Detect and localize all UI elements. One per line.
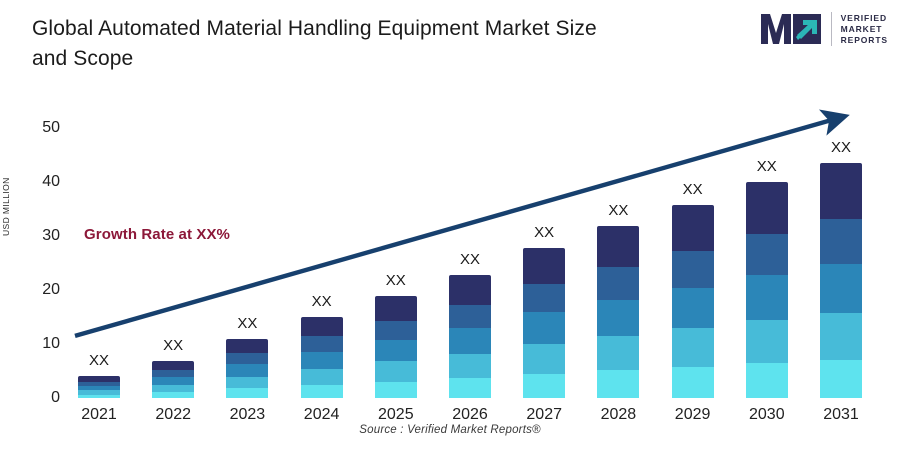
bar-value-label: XX — [656, 181, 730, 198]
y-axis-tick-label: 20 — [16, 281, 60, 299]
bar-group-2028[interactable]: XX2028 — [581, 0, 655, 450]
bars-container: XX2021XX2022XX2023XX2024XX2025XX2026XX20… — [62, 0, 882, 450]
bar-value-label: XX — [285, 293, 359, 310]
y-axis-tick-label: 50 — [16, 119, 60, 137]
x-axis-tick-label: 2031 — [804, 406, 878, 424]
bar-segment-segment-3 — [597, 300, 639, 336]
stacked-bar[interactable] — [746, 182, 788, 398]
bar-segment-segment-3 — [152, 377, 194, 385]
y-axis-tick-label: 30 — [16, 227, 60, 245]
x-axis-tick-label: 2026 — [433, 406, 507, 424]
bar-group-2026[interactable]: XX2026 — [433, 0, 507, 450]
bar-value-label: XX — [804, 139, 878, 156]
bar-segment-segment-4 — [746, 320, 788, 363]
y-axis-ticks: 01020304050 — [10, 0, 60, 450]
bar-segment-segment-1-top — [449, 275, 491, 304]
bar-value-label: XX — [433, 251, 507, 268]
bar-segment-segment-5-bottom — [523, 374, 565, 398]
bar-value-label: XX — [581, 202, 655, 219]
bar-segment-segment-5-bottom — [152, 392, 194, 398]
bar-segment-segment-4 — [820, 313, 862, 360]
bar-value-label: XX — [136, 337, 210, 354]
bar-segment-segment-5-bottom — [375, 382, 417, 398]
bar-value-label: XX — [730, 158, 804, 175]
bar-value-label: XX — [210, 315, 284, 332]
stacked-bar[interactable] — [301, 317, 343, 398]
bar-segment-segment-4 — [152, 385, 194, 392]
bar-group-2029[interactable]: XX2029 — [656, 0, 730, 450]
y-axis-tick-label: 10 — [16, 335, 60, 353]
bar-segment-segment-1-top — [523, 248, 565, 284]
stacked-bar[interactable] — [78, 376, 120, 398]
bar-segment-segment-1-top — [301, 317, 343, 336]
bar-segment-segment-4 — [301, 369, 343, 385]
bar-segment-segment-2 — [672, 251, 714, 288]
bar-group-2022[interactable]: XX2022 — [136, 0, 210, 450]
stacked-bar[interactable] — [375, 296, 417, 398]
stacked-bar[interactable] — [226, 339, 268, 398]
bar-group-2025[interactable]: XX2025 — [359, 0, 433, 450]
x-axis-tick-label: 2024 — [285, 406, 359, 424]
y-axis-tick-label: 0 — [16, 389, 60, 407]
bar-group-2031[interactable]: XX2031 — [804, 0, 878, 450]
x-axis-tick-label: 2021 — [62, 406, 136, 424]
bar-segment-segment-3 — [672, 288, 714, 329]
bar-segment-segment-1-top — [375, 296, 417, 320]
bar-segment-segment-5-bottom — [597, 370, 639, 397]
bar-segment-segment-5-bottom — [78, 395, 120, 398]
bar-segment-segment-4 — [449, 354, 491, 379]
growth-rate-annotation: Growth Rate at XX% — [84, 226, 230, 243]
bar-segment-segment-4 — [226, 377, 268, 389]
bar-segment-segment-2 — [375, 321, 417, 340]
bar-segment-segment-5-bottom — [449, 378, 491, 398]
bar-segment-segment-2 — [597, 267, 639, 300]
x-axis-tick-label: 2029 — [656, 406, 730, 424]
x-axis-tick-label: 2025 — [359, 406, 433, 424]
bar-segment-segment-1-top — [820, 163, 862, 219]
bar-segment-segment-1-top — [672, 205, 714, 251]
bar-segment-segment-5-bottom — [301, 385, 343, 398]
stacked-bar[interactable] — [672, 205, 714, 398]
bar-segment-segment-3 — [449, 328, 491, 354]
bar-group-2030[interactable]: XX2030 — [730, 0, 804, 450]
bar-group-2024[interactable]: XX2024 — [285, 0, 359, 450]
bar-segment-segment-3 — [746, 275, 788, 320]
bar-segment-segment-3 — [820, 264, 862, 313]
source-note: Source : Verified Market Reports® — [0, 424, 900, 436]
bar-segment-segment-2 — [152, 370, 194, 377]
stacked-bar[interactable] — [597, 226, 639, 398]
x-axis-tick-label: 2023 — [210, 406, 284, 424]
bar-segment-segment-5-bottom — [226, 388, 268, 398]
stacked-bar[interactable] — [152, 361, 194, 398]
bar-segment-segment-5-bottom — [746, 363, 788, 398]
bar-segment-segment-4 — [597, 336, 639, 370]
bar-segment-segment-2 — [301, 336, 343, 351]
bar-segment-segment-3 — [375, 340, 417, 361]
bar-segment-segment-1-top — [597, 226, 639, 267]
bar-value-label: XX — [359, 272, 433, 289]
x-axis-tick-label: 2028 — [581, 406, 655, 424]
y-axis-tick-label: 40 — [16, 173, 60, 191]
bar-segment-segment-4 — [375, 361, 417, 381]
stacked-bar-chart: USD MILLION 01020304050 XX2021XX2022XX20… — [0, 0, 900, 450]
bar-segment-segment-2 — [746, 234, 788, 275]
bar-value-label: XX — [62, 352, 136, 369]
bar-group-2021[interactable]: XX2021 — [62, 0, 136, 450]
bar-segment-segment-3 — [226, 364, 268, 376]
stacked-bar[interactable] — [820, 163, 862, 398]
bar-segment-segment-2 — [820, 219, 862, 264]
bar-group-2023[interactable]: XX2023 — [210, 0, 284, 450]
x-axis-tick-label: 2022 — [136, 406, 210, 424]
bar-segment-segment-3 — [301, 352, 343, 369]
bar-segment-segment-4 — [672, 328, 714, 367]
bar-segment-segment-1-top — [746, 182, 788, 234]
x-axis-tick-label: 2027 — [507, 406, 581, 424]
stacked-bar[interactable] — [449, 275, 491, 398]
bar-segment-segment-5-bottom — [672, 367, 714, 398]
bar-segment-segment-1-top — [226, 339, 268, 353]
x-axis-tick-label: 2030 — [730, 406, 804, 424]
bar-segment-segment-4 — [523, 344, 565, 374]
bar-segment-segment-2 — [523, 284, 565, 313]
bar-segment-segment-2 — [449, 305, 491, 328]
stacked-bar[interactable] — [523, 248, 565, 398]
bar-segment-segment-1-top — [152, 361, 194, 370]
bar-segment-segment-3 — [523, 312, 565, 344]
bar-group-2027[interactable]: XX2027 — [507, 0, 581, 450]
bar-segment-segment-2 — [226, 353, 268, 364]
bar-segment-segment-5-bottom — [820, 360, 862, 398]
bar-value-label: XX — [507, 224, 581, 241]
